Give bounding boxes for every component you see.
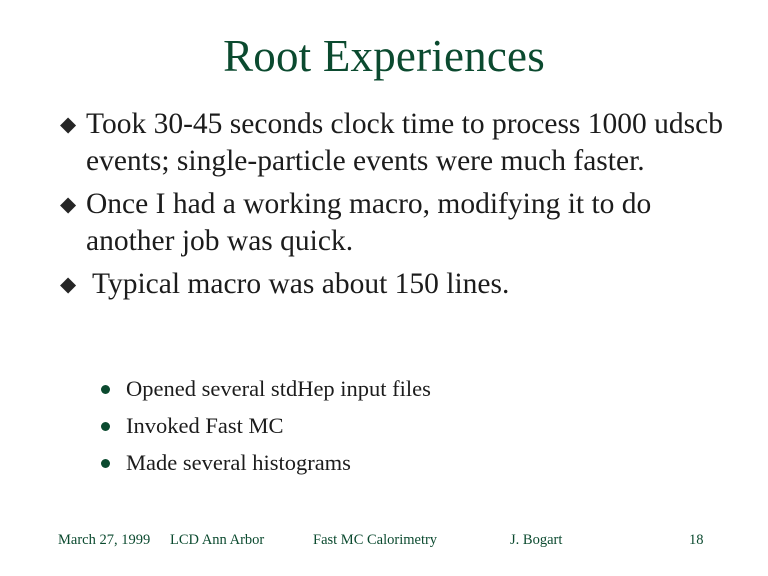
round-bullet-icon xyxy=(96,374,126,404)
sub-bullet-text: Made several histograms xyxy=(126,448,696,478)
list-item: Made several histograms xyxy=(96,448,696,478)
slide-footer: March 27, 1999 LCD Ann Arbor Fast MC Cal… xyxy=(0,530,768,550)
round-bullet-icon xyxy=(96,448,126,478)
sub-bullet-text: Invoked Fast MC xyxy=(126,411,696,441)
round-bullet-icon xyxy=(96,411,126,441)
bullet-text: Typical macro was about 150 lines. xyxy=(86,266,732,303)
sub-bullet-text: Opened several stdHep input files xyxy=(126,374,696,404)
footer-page-number: 18 xyxy=(689,530,704,550)
diamond-bullet-icon: ◆ xyxy=(60,186,86,223)
bullet-text: Took 30-45 seconds clock time to process… xyxy=(86,106,732,180)
presentation-slide: Root Experiences ◆ Took 30-45 seconds cl… xyxy=(0,0,768,576)
footer-author: J. Bogart xyxy=(510,530,562,550)
footer-topic: Fast MC Calorimetry xyxy=(313,530,437,550)
bullet-text: Once I had a working macro, modifying it… xyxy=(86,186,732,260)
list-item: ◆ Once I had a working macro, modifying … xyxy=(60,186,732,260)
diamond-bullet-icon: ◆ xyxy=(60,106,86,143)
list-item: ◆ Took 30-45 seconds clock time to proce… xyxy=(60,106,732,180)
list-item: Invoked Fast MC xyxy=(96,411,696,441)
list-item: Opened several stdHep input files xyxy=(96,374,696,404)
page-title: Root Experiences xyxy=(0,30,768,82)
list-item: ◆ Typical macro was about 150 lines. xyxy=(60,266,732,303)
footer-venue: LCD Ann Arbor xyxy=(170,530,264,550)
diamond-bullet-icon: ◆ xyxy=(60,266,86,303)
bullet-list: ◆ Took 30-45 seconds clock time to proce… xyxy=(60,106,732,309)
sub-bullet-list: Opened several stdHep input files Invoke… xyxy=(96,374,696,485)
footer-date: March 27, 1999 xyxy=(58,530,150,550)
